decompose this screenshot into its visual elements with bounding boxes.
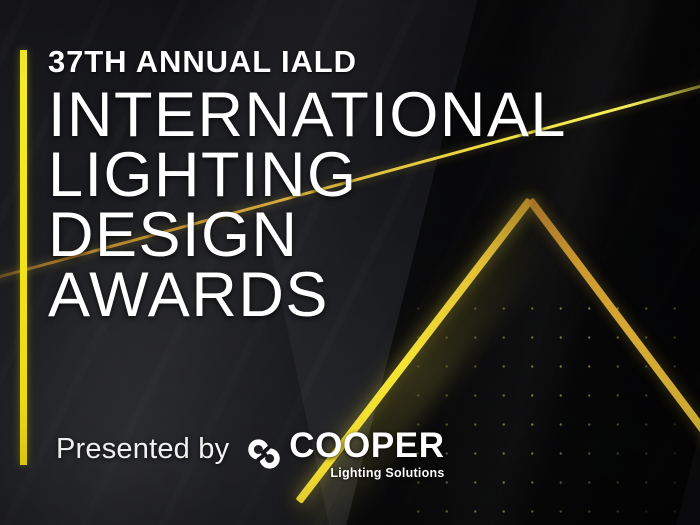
yellow-vertical-accent-bar [20, 50, 27, 465]
cooper-text-block: COOPER Lighting Solutions [289, 428, 444, 480]
cooper-wordmark: COOPER [289, 428, 444, 463]
presented-by-label: Presented by [56, 435, 229, 464]
poster-kicker: 37TH ANNUAL IALD [48, 46, 688, 77]
headline-line-4: AWARDS [48, 266, 688, 326]
poster-text-stack: 37TH ANNUAL IALD INTERNATIONAL LIGHTING … [48, 46, 688, 325]
headline-line-3: DESIGN [48, 206, 688, 266]
cooper-logo-lockup: COOPER Lighting Solutions [246, 428, 444, 480]
cooper-tagline: Lighting Solutions [330, 467, 444, 480]
poster-headline: INTERNATIONAL LIGHTING DESIGN AWARDS [48, 86, 688, 325]
ialf-awards-poster: 37TH ANNUAL IALD INTERNATIONAL LIGHTING … [0, 0, 700, 525]
cooper-interlocking-links-logo-icon [246, 436, 282, 472]
headline-line-1: INTERNATIONAL [48, 86, 688, 146]
presented-by-row: Presented by COOPER Lighting Solutions [56, 428, 445, 480]
headline-line-2: LIGHTING [48, 146, 688, 206]
